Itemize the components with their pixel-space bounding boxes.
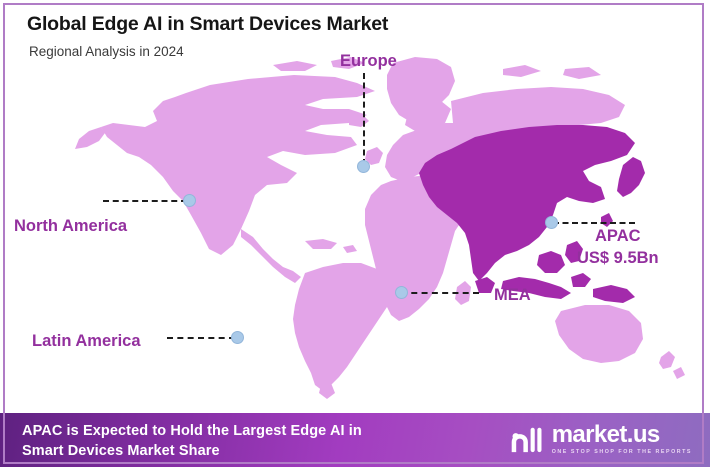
map-base-regions <box>75 57 685 399</box>
region-alaska-shape <box>75 127 105 149</box>
marker-latin-america[interactable] <box>231 331 244 344</box>
region-taiwan-shape <box>601 213 613 227</box>
marker-north-america[interactable] <box>183 194 196 207</box>
leader-line-apac <box>553 222 635 224</box>
region-japan-shape <box>617 157 645 197</box>
marker-apac[interactable] <box>545 216 558 229</box>
footer-banner: APAC is Expected to Hold the Largest Edg… <box>0 413 710 467</box>
region-iceland-shape <box>349 115 369 127</box>
region-value-apac: US$ 9.5Bn <box>577 249 659 268</box>
brand-text: market.us ONE STOP SHOP FOR THE REPORTS <box>552 423 692 455</box>
map-canvas: Global Edge AI in Smart Devices Market R… <box>5 5 702 413</box>
leader-line-mea <box>401 292 479 294</box>
market-us-logo-icon <box>509 424 545 455</box>
region-south-america-shape <box>293 263 391 391</box>
region-label-europe: Europe <box>340 52 397 71</box>
region-north-america-shape <box>101 75 375 255</box>
region-label-mea: MEA <box>494 286 531 305</box>
region-label-apac: APAC <box>595 227 641 246</box>
marker-mea[interactable] <box>395 286 408 299</box>
footer-callout: APAC is Expected to Hold the Largest Edg… <box>22 421 362 461</box>
leader-line-latin-america <box>167 337 235 339</box>
region-australia-shape <box>555 305 643 363</box>
leader-line-north-america <box>103 200 187 202</box>
region-label-north-america: North America <box>14 217 127 236</box>
marker-europe[interactable] <box>357 160 370 173</box>
infographic-root: Global Edge AI in Smart Devices Market R… <box>0 0 710 467</box>
leader-line-europe <box>363 73 365 165</box>
region-caribbean-shape <box>305 239 357 253</box>
brand-logo[interactable]: market.us ONE STOP SHOP FOR THE REPORTS <box>509 423 692 455</box>
brand-name: market.us <box>552 423 692 447</box>
region-central-america-shape <box>241 229 301 283</box>
region-label-latin-america: Latin America <box>32 332 141 351</box>
footer-callout-line1: APAC is Expected to Hold the Largest Edg… <box>22 421 362 441</box>
region-patagonia-shape <box>319 383 335 399</box>
page-subtitle: Regional Analysis in 2024 <box>29 44 184 59</box>
footer-callout-line2: Smart Devices Market Share <box>22 441 362 461</box>
page-title: Global Edge AI in Smart Devices Market <box>27 13 388 36</box>
map-highlight-regions <box>419 125 645 303</box>
region-new-zealand-shape <box>659 351 685 379</box>
brand-tagline: ONE STOP SHOP FOR THE REPORTS <box>552 450 692 455</box>
